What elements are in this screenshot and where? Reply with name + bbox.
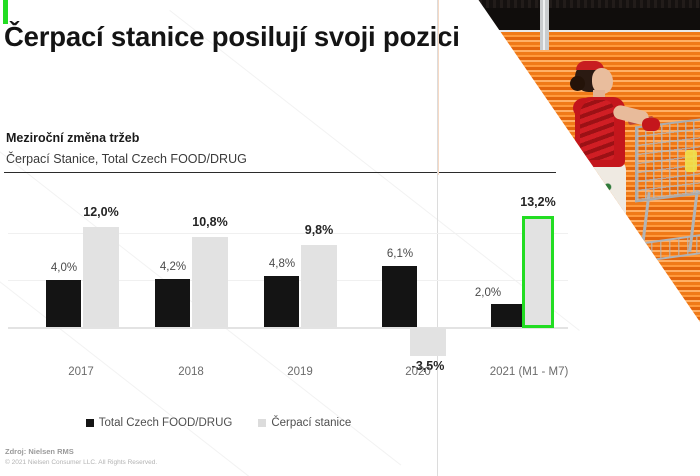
slide-root: Čerpací stanice posilují svoji pozici Me… — [0, 0, 700, 476]
legend-swatch-icon-fooddrug — [86, 419, 94, 427]
legend-swatch-icon-cerpaci — [258, 419, 266, 427]
legend-item-cerpaci[interactable]: Čerpací stanice — [258, 417, 351, 429]
label-2021-fooddrug: 2,0% — [460, 287, 516, 299]
label-2018-cerpaci: 10,8% — [181, 215, 239, 229]
bar-2019-fooddrug — [264, 276, 299, 327]
label-2017-cerpaci: 12,0% — [72, 205, 130, 219]
bar-2021-cerpaci-highlighted — [522, 216, 554, 328]
legend-label-fooddrug: Total Czech FOOD/DRUG — [99, 417, 233, 429]
bar-2020-fooddrug — [382, 266, 417, 327]
xlabel-2018: 2018 — [155, 366, 227, 378]
cart-product-item — [685, 150, 697, 172]
label-2020-fooddrug: 6,1% — [372, 248, 428, 260]
bar-2017-cerpaci — [83, 227, 119, 327]
woman-top-pattern — [580, 100, 614, 160]
chart-legend: Total Czech FOOD/DRUG Čerpací stanice — [0, 412, 437, 434]
bar-2021-fooddrug — [491, 304, 523, 327]
label-2021-cerpaci: 13,2% — [509, 195, 567, 209]
bar-2020-cerpaci — [410, 328, 446, 356]
woman-hand-glove — [642, 118, 660, 131]
bar-2019-cerpaci — [301, 245, 337, 327]
xlabel-2017: 2017 — [45, 366, 117, 378]
bar-2017-fooddrug — [46, 280, 81, 327]
legend-label-cerpaci: Čerpací stanice — [271, 417, 351, 429]
xlabel-2019: 2019 — [264, 366, 336, 378]
bar-2018-cerpaci — [192, 237, 228, 327]
legend-item-fooddrug[interactable]: Total Czech FOOD/DRUG — [86, 417, 233, 429]
axis-baseline — [8, 327, 568, 329]
chart-subheading: Čerpací Stanice, Total Czech FOOD/DRUG — [6, 152, 247, 166]
copyright-note: © 2021 Nielsen Consumer LLC. All Rights … — [5, 459, 157, 466]
source-note: Zdroj: Nielsen RMS — [5, 447, 74, 456]
photo-pillar — [540, 0, 549, 50]
xlabel-2021: 2021 (M1 - M7) — [470, 366, 588, 378]
woman-hair-bun — [570, 76, 585, 91]
bar-2018-fooddrug — [155, 279, 190, 327]
xlabel-2020: 2020 — [382, 366, 454, 378]
vertical-divider-warm — [438, 0, 439, 175]
chart-heading: Meziroční změna tržeb — [6, 131, 139, 145]
header-divider-rule — [4, 172, 556, 173]
label-2019-cerpaci: 9,8% — [290, 223, 348, 237]
slide-title: Čerpací stanice posilují svoji pozici — [4, 22, 474, 52]
